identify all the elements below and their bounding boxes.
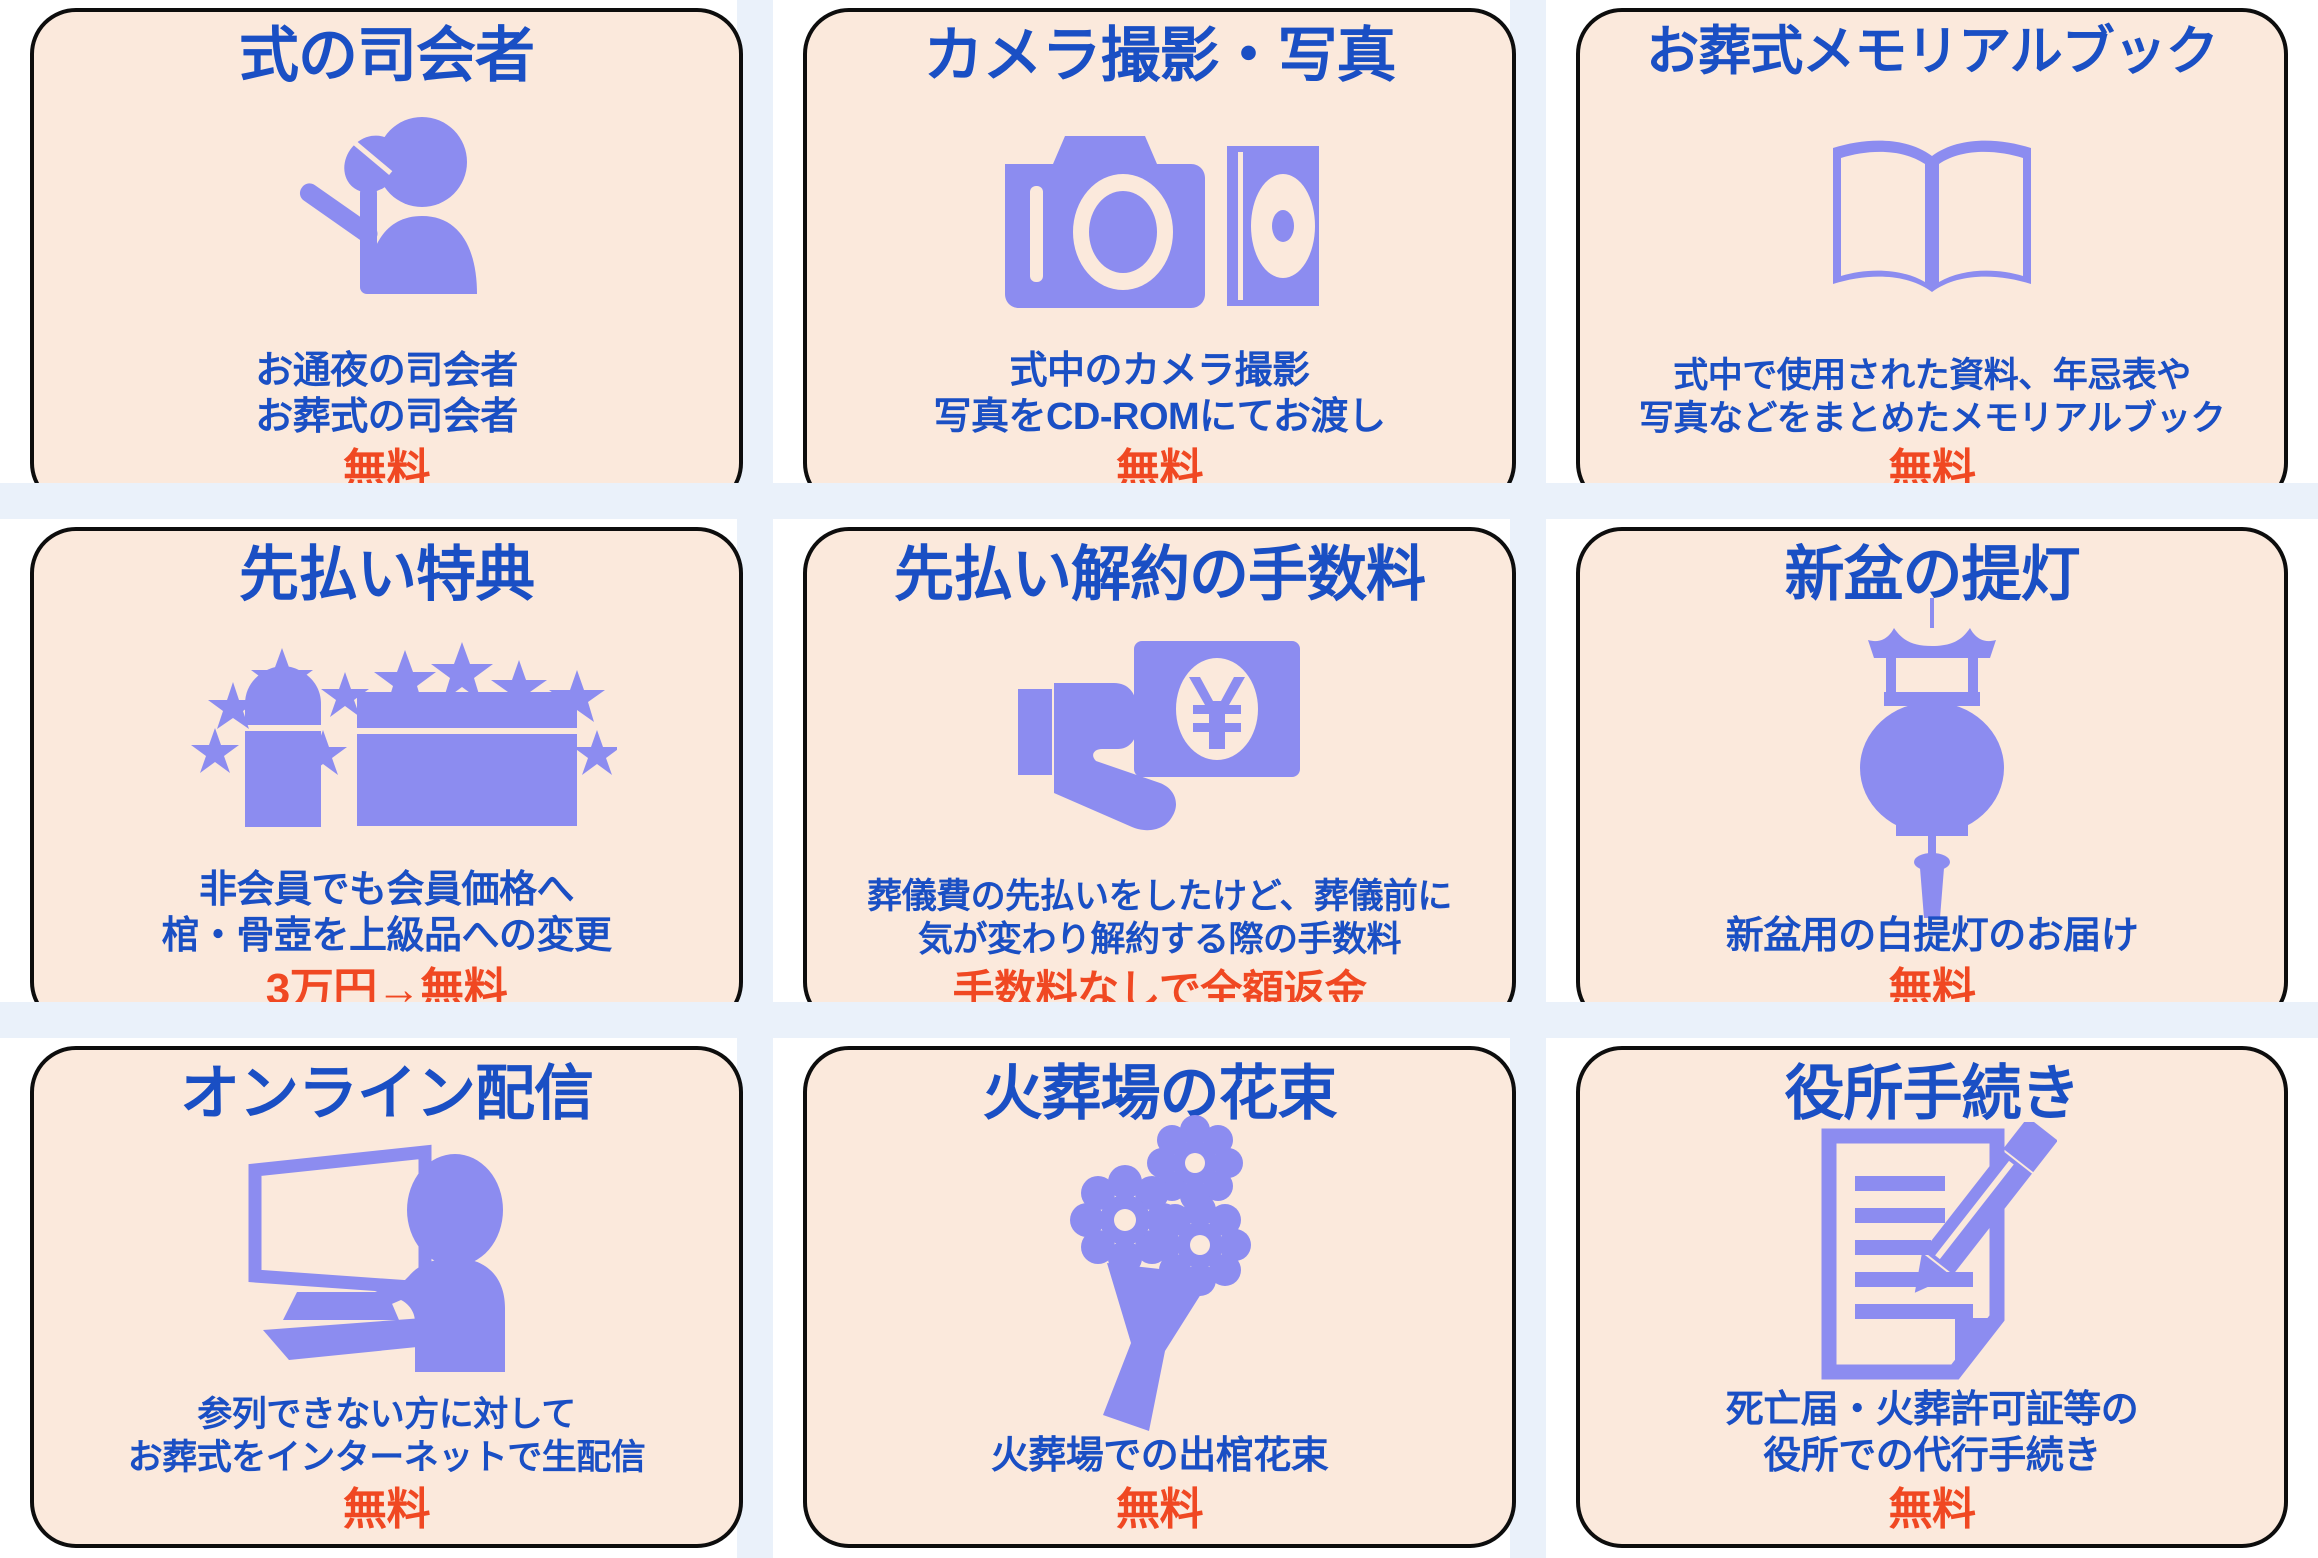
hand-yen-bill-icon bbox=[821, 608, 1498, 876]
service-card-mc[interactable]: 式の司会者 お通夜の司会者 お葬式の司会者 無料 bbox=[30, 8, 743, 509]
card-desc-line-1: 式中で使用された資料、年忌表や bbox=[1673, 355, 2191, 398]
card-title: 先払い解約の手数料 bbox=[894, 541, 1425, 608]
service-card-cancel-fee[interactable]: 先払い解約の手数料 葬儀費の先払いをしたけど、葬儀前に 気が変わり解約する際の手… bbox=[803, 527, 1516, 1028]
card-desc-line-2: 気が変わり解約する際の手数料 bbox=[918, 919, 1401, 962]
card-desc-line-2: 写真をCD-ROMにてお渡し bbox=[933, 394, 1385, 440]
card-desc-line-1: 死亡届・火葬許可証等の bbox=[1726, 1387, 2139, 1433]
card-tile-3: お葬式メモリアルブック 式中で使用された資料、年忌表や 写真などをまとめたメモリ… bbox=[1546, 0, 2318, 519]
person-computer-icon bbox=[48, 1127, 725, 1394]
document-pencil-icon bbox=[1594, 1127, 2270, 1387]
service-card-prepay-benefit[interactable]: 先払い特典 bbox=[30, 527, 743, 1028]
card-tile-6: 新盆の提灯 新盆用の白提灯のお届け 無料 bbox=[1546, 519, 2318, 1038]
card-tile-8: 火葬場の花束 bbox=[773, 1038, 1546, 1558]
card-desc-line-1: お通夜の司会者 bbox=[255, 348, 518, 394]
open-book-icon bbox=[1594, 81, 2270, 355]
card-price: 無料 bbox=[1116, 447, 1203, 495]
card-title: 先払い特典 bbox=[239, 541, 534, 608]
card-desc-line-2: 役所での代行手続き bbox=[1763, 1433, 2101, 1479]
card-desc-line-1: 新盆用の白提灯のお届け bbox=[1726, 913, 2139, 959]
service-card-city-office[interactable]: 役所手続き bbox=[1576, 1046, 2288, 1548]
service-card-photo[interactable]: カメラ撮影・写真 式中のカメラ撮影 写真をCD-ROMにてお渡し 無料 bbox=[803, 8, 1516, 509]
card-title: お葬式メモリアルブック bbox=[1646, 22, 2217, 81]
card-desc-line-1: 式中のカメラ撮影 bbox=[1009, 348, 1309, 394]
card-tile-4: 先払い特典 bbox=[0, 519, 773, 1038]
card-desc-line-1: 非会員でも会員価格へ bbox=[199, 867, 574, 913]
card-desc-line-1: 参列できない方に対して bbox=[197, 1394, 575, 1437]
card-desc-line-2: 棺・骨壺を上級品への変更 bbox=[161, 913, 611, 959]
card-desc-line-2: 写真などをまとめたメモリアルブック bbox=[1639, 398, 2225, 441]
card-price: 手数料なしで全額返金 bbox=[953, 968, 1367, 1014]
card-price: 3万円→無料 bbox=[266, 966, 507, 1014]
card-desc-line-1: 火葬場での出棺花束 bbox=[991, 1433, 1329, 1479]
card-desc-line-1: 葬儀費の先払いをしたけど、葬儀前に bbox=[867, 876, 1452, 919]
card-price: 無料 bbox=[343, 447, 430, 495]
service-card-lantern[interactable]: 新盆の提灯 新盆用の白提灯のお届け 無料 bbox=[1576, 527, 2288, 1028]
service-card-bouquet[interactable]: 火葬場の花束 bbox=[803, 1046, 1516, 1548]
microphone-person-icon bbox=[48, 89, 725, 348]
service-card-memorial-book[interactable]: お葬式メモリアルブック 式中で使用された資料、年忌表や 写真などをまとめたメモリ… bbox=[1576, 8, 2288, 509]
card-title: 式の司会者 bbox=[239, 22, 534, 89]
card-price: 無料 bbox=[343, 1486, 430, 1534]
card-price: 無料 bbox=[1889, 447, 1976, 495]
card-tile-9: 役所手続き bbox=[1546, 1038, 2318, 1558]
urn-coffin-stars-icon bbox=[48, 608, 725, 867]
card-title: オンライン配信 bbox=[180, 1060, 593, 1127]
camera-cd-icon bbox=[821, 89, 1498, 348]
card-price: 無料 bbox=[1116, 1486, 1203, 1534]
service-card-grid: 式の司会者 お通夜の司会者 お葬式の司会者 無料 カメラ撮影・写真 bbox=[0, 0, 2318, 1558]
card-tile-7: オンライン配信 参列できない方に対して お葬式をインターネットで生配信 無料 bbox=[0, 1038, 773, 1558]
card-desc-line-2: お葬式の司会者 bbox=[255, 394, 518, 440]
card-price: 無料 bbox=[1889, 966, 1976, 1014]
card-price: 無料 bbox=[1889, 1486, 1976, 1534]
card-tile-2: カメラ撮影・写真 式中のカメラ撮影 写真をCD-ROMにてお渡し 無料 bbox=[773, 0, 1546, 519]
card-title: 役所手続き bbox=[1785, 1060, 2080, 1127]
card-tile-1: 式の司会者 お通夜の司会者 お葬式の司会者 無料 bbox=[0, 0, 773, 519]
flower-bouquet-icon bbox=[821, 1127, 1498, 1433]
card-desc-line-2: お葬式をインターネットで生配信 bbox=[128, 1437, 646, 1480]
paper-lantern-icon bbox=[1594, 608, 2270, 913]
card-title: カメラ撮影・写真 bbox=[924, 22, 1396, 89]
card-tile-5: 先払い解約の手数料 葬儀費の先払いをしたけど、葬儀前に 気が変わり解約する際の手… bbox=[773, 519, 1546, 1038]
service-card-online-stream[interactable]: オンライン配信 参列できない方に対して お葬式をインターネットで生配信 無料 bbox=[30, 1046, 743, 1548]
